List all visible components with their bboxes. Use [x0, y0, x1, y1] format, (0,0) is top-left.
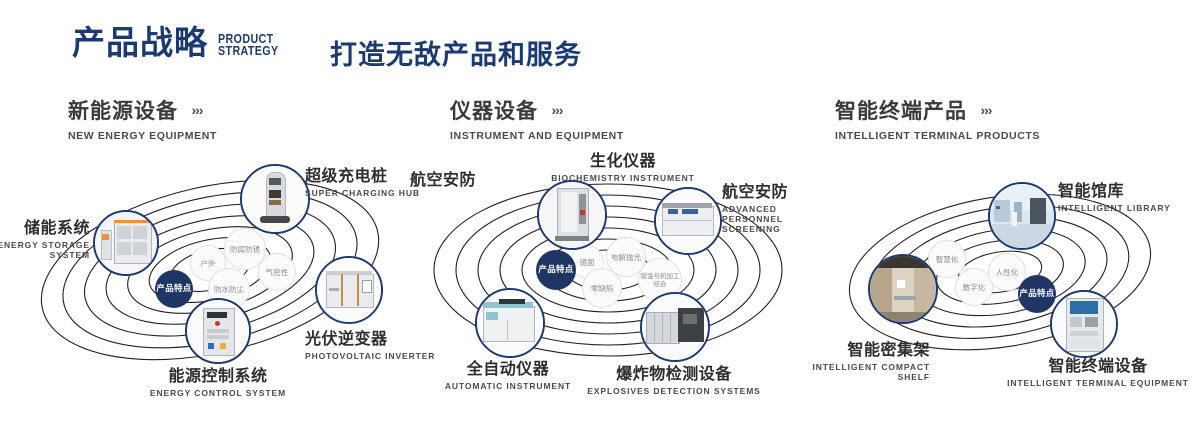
section-title-en: INTELLIGENT TERMINAL PRODUCTS	[835, 130, 1040, 142]
biochemistry-photo	[539, 182, 605, 248]
chevron-right-icon: ›››	[191, 102, 202, 118]
section-title-intelligent: 智能终端产品 ››› INTELLIGENT TERMINAL PRODUCTS	[835, 95, 1040, 142]
node-intelligent-compact-shelf[interactable]	[868, 254, 938, 324]
product-features-badge: 产品特点	[536, 250, 576, 290]
new-energy-cluster: 户外 防腐防锈 气密性 防水防尘 产品特点 储能系统 ENERGY STORAG…	[0, 150, 420, 400]
label-energy-control-system: 能源控制系统 ENERGY CONTROL SYSTEM	[88, 362, 348, 398]
node-energy-storage-system[interactable]	[93, 210, 159, 276]
section-title-cn: 新能源设备	[68, 95, 178, 125]
label-intelligent-terminal-equipment: 智能终端设备 INTELLIGENT TERMINAL EQUIPMENT	[998, 352, 1198, 388]
node-biochemistry-instrument[interactable]	[537, 180, 607, 250]
node-advanced-personnel-screening[interactable]	[654, 187, 722, 255]
page-root: 产品战略 PRODUCT STRATEGY 打造无敌产品和服务 新能源设备 ››…	[0, 0, 1200, 422]
section-title-cn: 智能终端产品	[835, 95, 967, 125]
chevron-right-icon: ›››	[980, 102, 991, 118]
label-intelligent-compact-shelf: 智能密集架 INTELLIGENT COMPACT SHELF	[790, 336, 930, 382]
node-automatic-instrument[interactable]	[475, 288, 545, 358]
inverter-photo	[317, 258, 381, 322]
instrument-cluster: 镜面 电解抛光 零缺陷 钣金与机加工结合 产品特点 生化仪器 BIOCHEMIS…	[400, 150, 820, 400]
product-features-badge: 产品特点	[1018, 275, 1056, 313]
page-title-en-line2: STRATEGY	[218, 43, 279, 58]
label-intelligent-library: 智能馆库 INTELLIGENT LIBRARY	[1058, 177, 1171, 213]
section-title-instrument: 仪器设备 ››› INSTRUMENT AND EQUIPMENT	[450, 95, 624, 142]
page-title-en: PRODUCT STRATEGY	[218, 33, 279, 57]
section-title-cn: 仪器设备	[450, 95, 538, 125]
page-title: 产品战略 PRODUCT STRATEGY	[72, 26, 292, 59]
node-energy-control-system[interactable]	[185, 298, 251, 364]
feature-bubble: 零缺陷	[582, 268, 622, 308]
feature-bubble: 气密性	[258, 253, 296, 291]
page-subtitle: 打造无敌产品和服务	[330, 33, 582, 72]
label-biochemistry-instrument: 生化仪器 BIOCHEMISTRY INSTRUMENT	[543, 147, 703, 183]
control-system-photo	[187, 300, 249, 362]
label-aviation-security-extra: 航空安防	[410, 166, 476, 190]
charging-hub-photo	[242, 166, 308, 232]
section-title-en: NEW ENERGY EQUIPMENT	[68, 130, 217, 142]
section-title-en: INSTRUMENT AND EQUIPMENT	[450, 130, 624, 142]
energy-storage-photo	[95, 212, 157, 274]
intelligent-cluster: 智慧化 数字化 人性化 产品特点 智能馆库 INTELLIGENT LIBRAR…	[800, 150, 1200, 400]
node-explosives-detection[interactable]	[640, 292, 710, 362]
compact-shelf-photo	[870, 256, 936, 322]
node-intelligent-library[interactable]	[988, 182, 1056, 250]
node-photovoltaic-inverter[interactable]	[315, 256, 383, 324]
node-super-charging-hub[interactable]	[240, 164, 310, 234]
chevron-right-icon: ›››	[551, 102, 562, 118]
label-energy-storage-system: 储能系统 ENERGY STORAGE SYSTEM	[0, 214, 90, 260]
page-title-cn: 产品战略	[72, 26, 208, 59]
label-explosives-detection: 爆炸物检测设备 EXPLOSIVES DETECTION SYSTEMS	[545, 360, 803, 396]
automatic-instrument-photo	[477, 290, 543, 356]
section-title-new-energy: 新能源设备 ››› NEW ENERGY EQUIPMENT	[68, 95, 217, 142]
explosives-detection-photo	[642, 294, 708, 360]
screening-photo	[656, 189, 720, 253]
node-intelligent-terminal-equipment[interactable]	[1050, 290, 1118, 358]
terminal-equipment-photo	[1052, 292, 1116, 356]
library-photo	[990, 184, 1054, 248]
